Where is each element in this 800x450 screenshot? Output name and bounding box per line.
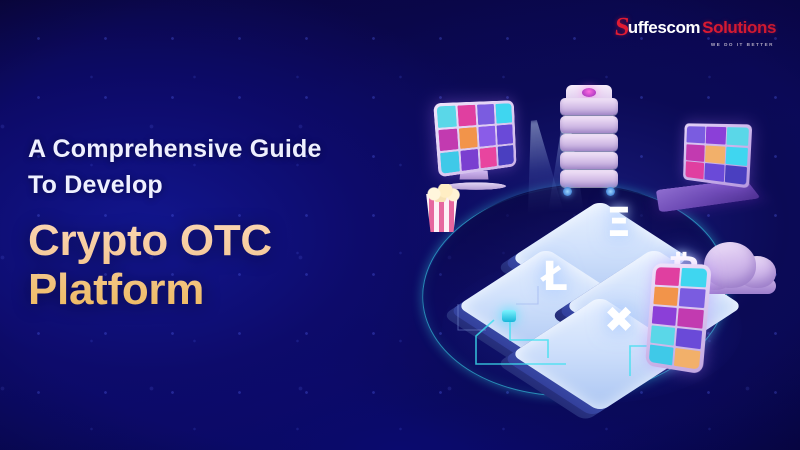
ethereum-icon: Ξ [606,200,631,246]
screen-tile [675,328,702,350]
server-layer [560,98,618,115]
screen-tile [478,126,496,147]
server-layer [560,134,618,151]
screen-tile [440,151,460,174]
screen-tile [650,325,675,346]
subtitle-line-1: A Comprehensive Guide [28,132,383,168]
screen-tile [497,145,514,166]
server-foot [563,187,572,196]
screen-tile [459,127,478,149]
subtitle-line-2: To Develop [28,168,383,204]
phone-tile-grid [649,267,708,369]
screen-tile [687,126,706,143]
server-layer [560,152,618,169]
server-foot [606,187,615,196]
screen-tile [706,127,726,145]
logo-word-suffescom: uffescom [628,19,700,36]
logo-wordmark: S uffescom Solutions [615,14,776,40]
screen-tile [686,144,704,162]
screen-tile [479,147,497,169]
ripple-icon: ✖ [604,300,634,341]
monitor-tile-grid [437,103,514,174]
phone-screen [645,263,712,374]
server-layer [560,170,618,187]
screen-tile [495,103,512,124]
cloud-puff [704,242,756,288]
laptop [656,124,766,220]
screen-tile [460,149,479,171]
title-line-2: Platform [28,265,383,314]
screen-tile [679,288,706,308]
screen-tile [727,127,749,146]
server-rack [560,94,618,190]
server-layer [560,116,618,133]
suffescom-logo[interactable]: S uffescom Solutions WE DO IT BETTER [615,14,776,48]
screen-tile [726,146,748,165]
page-title: Crypto OTC Platform [28,216,383,315]
smartphone [646,264,708,370]
screen-tile [705,145,725,163]
screen-tile [496,124,513,145]
screen-tile [477,104,495,125]
popcorn-bucket [420,180,464,232]
server-indicator-light [582,88,596,97]
screen-tile [652,306,677,326]
screen-tile [457,105,476,127]
headline-block: A Comprehensive Guide To Develop Crypto … [28,132,383,315]
screen-tile [655,267,680,286]
screen-tile [438,128,458,151]
cloud-storage-icon [698,234,786,300]
laptop-tile-grid [685,126,749,185]
screen-tile [653,287,678,307]
screen-tile [674,347,701,369]
litecoin-icon: Ł [542,254,568,300]
circuit-connector-node [502,310,516,322]
logo-tagline: WE DO IT BETTER [711,43,774,48]
screen-tile [725,165,747,185]
screen-tile [685,161,703,179]
crypto-otc-illustration: Ξ ₿ Ł ✖ [398,58,800,428]
title-line-1: Crypto OTC [28,216,383,265]
screen-tile [680,268,707,288]
popcorn-kernels [422,184,462,202]
screen-tile [677,308,704,329]
screen-tile [704,163,724,182]
logo-word-solutions: Solutions [702,19,776,36]
screen-tile [437,106,458,129]
monitor-screen [433,100,516,177]
screen-tile [649,344,674,365]
promotional-banner: S uffescom Solutions WE DO IT BETTER A C… [0,0,800,450]
laptop-screen [683,123,752,188]
